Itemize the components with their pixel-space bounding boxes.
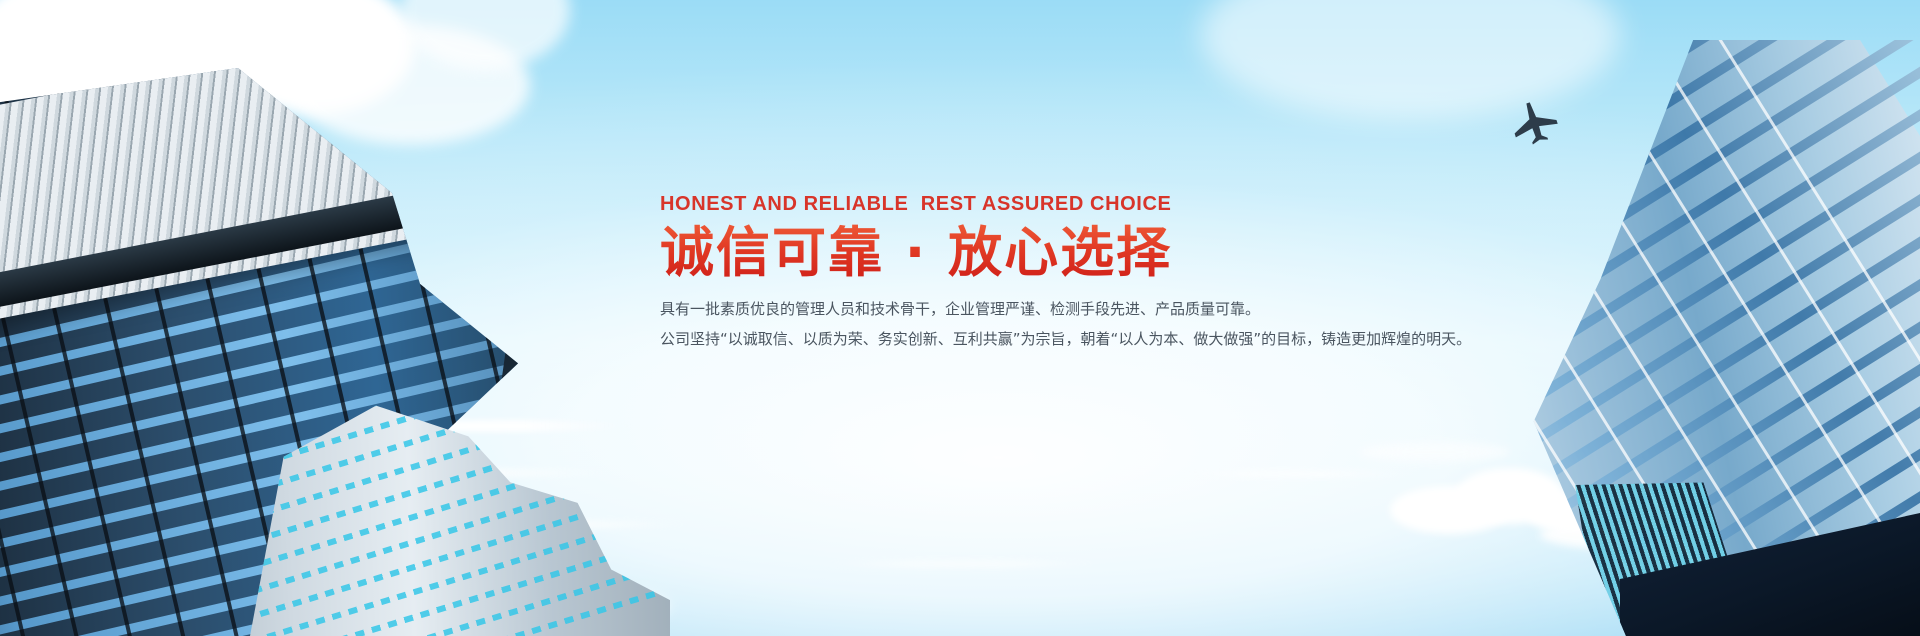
cloud-top-right-haze [1200, 0, 1620, 120]
description-line-1: 具有一批素质优良的管理人员和技术骨干，企业管理严谨、检测手段先进、产品质量可靠。 [660, 294, 1480, 324]
banner-copy: HONEST AND RELIABLE REST ASSURED CHOICE … [660, 192, 1480, 354]
hero-banner: HONEST AND RELIABLE REST ASSURED CHOICE … [0, 0, 1920, 636]
banner-headline: 诚信可靠 · 放心选择 [660, 222, 1480, 284]
banner-eyebrow: HONEST AND RELIABLE REST ASSURED CHOICE [660, 192, 1480, 216]
banner-description: 具有一批素质优良的管理人员和技术骨干，企业管理严谨、检测手段先进、产品质量可靠。… [660, 294, 1480, 354]
description-line-2: 公司坚持“以诚取信、以质为荣、务实创新、互利共赢”为宗旨，朝着“以人为本、做大做… [660, 324, 1480, 354]
